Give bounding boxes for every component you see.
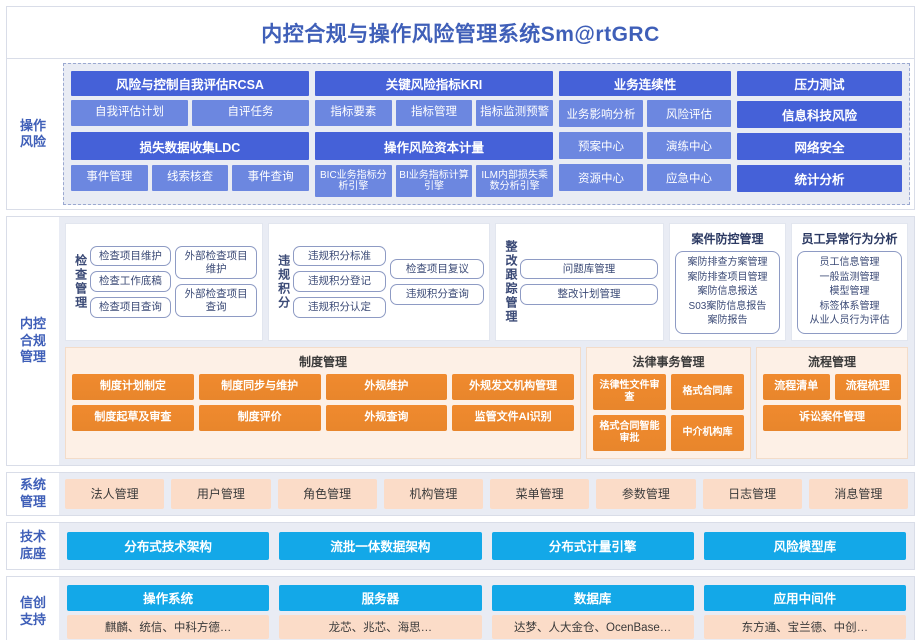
op-capital-header[interactable]: 操作风险资本计量 (315, 132, 553, 160)
policy-btn-plan[interactable]: 制度计划制定 (72, 374, 194, 400)
staff-item-practitioner-eval: 从业人员行为评估 (804, 314, 895, 329)
band-label-internal-control: 内控 合规 管理 (7, 217, 59, 465)
staff-item-model-mgmt: 模型管理 (804, 285, 895, 300)
staff-item-info-mgmt: 员工信息管理 (804, 256, 895, 271)
pill-violation-standard[interactable]: 违规积分标准 (293, 246, 387, 267)
stress-cell-stress-test[interactable]: 压力测试 (737, 71, 902, 96)
pill-check-item-query[interactable]: 检查项目查询 (90, 297, 172, 318)
band-label-operational-risk: 操作 风险 (7, 59, 59, 209)
rectification-label: 整改跟踪管理 (501, 230, 520, 334)
staff-item-tag-system: 标签体系管理 (804, 300, 895, 315)
tech-item-stream-batch-data[interactable]: 流批一体数据架构 (279, 532, 481, 560)
check-management-label: 检查管理 (71, 230, 90, 334)
sys-item-menu[interactable]: 菜单管理 (490, 479, 589, 509)
card-legal-affairs: 法律事务管理 法律性文件审查 格式合同智能审批 格式合同库 中介机构库 (586, 347, 751, 459)
tech-item-risk-model-library[interactable]: 风险模型库 (704, 532, 906, 560)
card-check-management: 检查管理 检查项目维护 检查工作底稿 检查项目查询 外部检查项目维护 外部检查项… (65, 223, 263, 341)
bcm-cell-resource-center[interactable]: 资源中心 (559, 164, 643, 191)
legal-btn-contract-ai-approval[interactable]: 格式合同智能审批 (593, 415, 666, 451)
case-item-s03-report: S03案防信息报告 (682, 300, 773, 315)
xc-sub-server-vendors: 龙芯、兆芯、海思… (279, 615, 481, 639)
pill-violation-register[interactable]: 违规积分登记 (293, 271, 387, 292)
band-label-text: 操作 风险 (20, 118, 46, 151)
process-btn-sorting[interactable]: 流程梳理 (835, 374, 902, 400)
xc-column-os: 操作系统 麒麟、统信、中科方德… (67, 585, 269, 639)
bcm-cell-plan-center[interactable]: 预案中心 (559, 132, 643, 159)
case-item-report: 案防报告 (682, 314, 773, 329)
legal-btn-contract-library[interactable]: 格式合同库 (671, 374, 744, 410)
tech-item-distributed-calc-engine[interactable]: 分布式计量引擎 (492, 532, 694, 560)
capital-sub-bi-engine[interactable]: BI业务指标计算引擎 (396, 165, 473, 197)
band-label-text: 信创 支持 (20, 595, 46, 628)
policy-btn-external-query[interactable]: 外规查询 (326, 405, 448, 431)
case-item-project-mgmt: 案防排查项目管理 (682, 271, 773, 286)
kri-sub-monitor-alert[interactable]: 指标监测预警 (476, 100, 553, 126)
card-staff-behavior: 员工异常行为分析 员工信息管理 一般监测管理 模型管理 标签体系管理 从业人员行… (791, 223, 908, 341)
xc-head-os[interactable]: 操作系统 (67, 585, 269, 611)
rcsa-sub-task[interactable]: 自评任务 (192, 100, 309, 126)
card-case-prevention: 案件防控管理 案防排查方案管理 案防排查项目管理 案防信息报送 S03案防信息报… (669, 223, 786, 341)
xc-head-database[interactable]: 数据库 (492, 585, 694, 611)
rcsa-header[interactable]: 风险与控制自我评估RCSA (71, 71, 309, 96)
sys-item-user[interactable]: 用户管理 (171, 479, 270, 509)
ldc-header[interactable]: 损失数据收集LDC (71, 132, 309, 160)
ldc-sub-event-mgmt[interactable]: 事件管理 (71, 165, 148, 191)
bcm-header[interactable]: 业务连续性 (559, 71, 731, 96)
ldc-sub-event-query[interactable]: 事件查询 (232, 165, 309, 191)
band-xinchuang-support: 信创 支持 操作系统 麒麟、统信、中科方德… 服务器 龙芯、兆芯、海思… 数据库… (6, 576, 915, 640)
sys-item-parameter[interactable]: 参数管理 (596, 479, 695, 509)
staff-behavior-items[interactable]: 员工信息管理 一般监测管理 模型管理 标签体系管理 从业人员行为评估 (797, 251, 902, 334)
xinchuang-body: 操作系统 麒麟、统信、中科方德… 服务器 龙芯、兆芯、海思… 数据库 达梦、人大… (59, 577, 914, 640)
xc-sub-os-vendors: 麒麟、统信、中科方德… (67, 615, 269, 639)
sys-item-legal-entity[interactable]: 法人管理 (65, 479, 164, 509)
card-rectification-tracking: 整改跟踪管理 问题库管理 整改计划管理 (495, 223, 664, 341)
process-btn-litigation-case[interactable]: 诉讼案件管理 (763, 405, 901, 431)
ldc-sub-clue-check[interactable]: 线索核查 (152, 165, 229, 191)
staff-item-general-monitor: 一般监测管理 (804, 271, 895, 286)
band-system-management: 系统 管理 法人管理 用户管理 角色管理 机构管理 菜单管理 参数管理 日志管理… (6, 472, 915, 516)
legal-btn-agency-library[interactable]: 中介机构库 (671, 415, 744, 451)
xc-head-server[interactable]: 服务器 (279, 585, 481, 611)
pill-check-item-maintain[interactable]: 检查项目维护 (90, 246, 172, 267)
policy-btn-draft-review[interactable]: 制度起草及审查 (72, 405, 194, 431)
tech-item-distributed-architecture[interactable]: 分布式技术架构 (67, 532, 269, 560)
violation-points-label: 违规积分 (274, 230, 293, 334)
sys-item-message[interactable]: 消息管理 (809, 479, 908, 509)
card-violation-points: 违规积分 违规积分标准 违规积分登记 违规积分认定 检查项目复议 违规积分查询 (268, 223, 490, 341)
pill-check-item-review[interactable]: 检查项目复议 (390, 259, 484, 280)
system-management-body: 法人管理 用户管理 角色管理 机构管理 菜单管理 参数管理 日志管理 消息管理 (59, 473, 914, 515)
policy-btn-evaluate[interactable]: 制度评价 (199, 405, 321, 431)
stress-cell-statistics[interactable]: 统计分析 (737, 165, 902, 192)
legal-affairs-title: 法律事务管理 (593, 353, 744, 370)
bcm-cell-risk-assess[interactable]: 风险评估 (647, 100, 731, 127)
pill-issue-library[interactable]: 问题库管理 (520, 259, 658, 280)
pill-external-check-maintain[interactable]: 外部检查项目维护 (175, 246, 257, 279)
legal-btn-doc-review[interactable]: 法律性文件审查 (593, 374, 666, 410)
policy-btn-sync-maintain[interactable]: 制度同步与维护 (199, 374, 321, 400)
xc-sub-database-vendors: 达梦、人大金仓、OcenBase… (492, 615, 694, 639)
card-process-management: 流程管理 流程清单 流程梳理 诉讼案件管理 (756, 347, 908, 459)
xc-column-database: 数据库 达梦、人大金仓、OcenBase… (492, 585, 694, 639)
xc-column-middleware: 应用中间件 东方通、宝兰德、中创… (704, 585, 906, 639)
group-rcsa: 风险与控制自我评估RCSA 自我评估计划 自评任务 损失数据收集LDC 事件管理… (71, 71, 309, 197)
sys-item-log[interactable]: 日志管理 (703, 479, 802, 509)
bcm-cell-drill-center[interactable]: 演练中心 (647, 132, 731, 159)
stress-cell-cyber-security[interactable]: 网络安全 (737, 133, 902, 160)
band-label-text: 技术 底座 (20, 529, 46, 562)
xc-head-middleware[interactable]: 应用中间件 (704, 585, 906, 611)
group-stress-test: 压力测试 信息科技风险 网络安全 统计分析 (737, 71, 902, 197)
xc-column-server: 服务器 龙芯、兆芯、海思… (279, 585, 481, 639)
staff-behavior-title: 员工异常行为分析 (797, 230, 902, 247)
policy-btn-ai-recognition[interactable]: 监管文件AI识别 (452, 405, 574, 431)
pill-check-working-paper[interactable]: 检查工作底稿 (90, 271, 172, 292)
operational-risk-body: 风险与控制自我评估RCSA 自我评估计划 自评任务 损失数据收集LDC 事件管理… (63, 63, 910, 205)
architecture-diagram: 内控合规与操作风险管理系统Sm@rtGRC 操作 风险 风险与控制自我评估RCS… (0, 6, 921, 640)
xc-sub-middleware-vendors: 东方通、宝兰德、中创… (704, 615, 906, 639)
policy-btn-issuing-org[interactable]: 外规发文机构管理 (452, 374, 574, 400)
band-label-xinchuang: 信创 支持 (7, 577, 59, 640)
bcm-cell-bia[interactable]: 业务影响分析 (559, 100, 643, 127)
sys-item-role[interactable]: 角色管理 (278, 479, 377, 509)
pill-external-check-query[interactable]: 外部检查项目查询 (175, 284, 257, 317)
tech-base-body: 分布式技术架构 流批一体数据架构 分布式计量引擎 风险模型库 (59, 523, 914, 569)
case-prevention-title: 案件防控管理 (675, 230, 780, 247)
pill-violation-query[interactable]: 违规积分查询 (390, 284, 484, 305)
band-tech-base: 技术 底座 分布式技术架构 流批一体数据架构 分布式计量引擎 风险模型库 (6, 522, 915, 570)
kri-sub-elements[interactable]: 指标要素 (315, 100, 392, 126)
policy-management-title: 制度管理 (72, 353, 574, 370)
band-label-system-management: 系统 管理 (7, 473, 59, 515)
internal-control-body: 检查管理 检查项目维护 检查工作底稿 检查项目查询 外部检查项目维护 外部检查项… (59, 217, 914, 465)
group-bcm: 业务连续性 业务影响分析 预案中心 资源中心 风险评估 演练中心 应急中心 (559, 71, 731, 197)
case-prevention-items[interactable]: 案防排查方案管理 案防排查项目管理 案防信息报送 S03案防信息报告 案防报告 (675, 251, 780, 334)
pill-rectification-plan[interactable]: 整改计划管理 (520, 284, 658, 305)
process-management-title: 流程管理 (763, 353, 901, 370)
pill-violation-confirm[interactable]: 违规积分认定 (293, 297, 387, 318)
capital-sub-ilm-engine[interactable]: ILM内部损失乘数分析引擎 (476, 165, 553, 197)
policy-btn-external-maintain[interactable]: 外规维护 (326, 374, 448, 400)
stress-cell-it-risk[interactable]: 信息科技风险 (737, 101, 902, 128)
band-label-text: 系统 管理 (20, 477, 46, 510)
card-policy-management: 制度管理 制度计划制定 制度起草及审查 制度同步与维护 制度评价 外规维护 外规 (65, 347, 581, 459)
rcsa-sub-plan[interactable]: 自我评估计划 (71, 100, 188, 126)
process-btn-list[interactable]: 流程清单 (763, 374, 830, 400)
page-title: 内控合规与操作风险管理系统Sm@rtGRC (261, 18, 660, 48)
band-operational-risk: 操作 风险 风险与控制自我评估RCSA 自我评估计划 自评任务 损失数据收集LD… (6, 58, 915, 210)
band-label-text: 内控 合规 管理 (20, 316, 46, 365)
bcm-cell-emergency-center[interactable]: 应急中心 (647, 164, 731, 191)
sys-item-organization[interactable]: 机构管理 (384, 479, 483, 509)
group-kri: 关键风险指标KRI 指标要素 指标管理 指标监测预警 操作风险资本计量 BIC业… (315, 71, 553, 197)
kri-header[interactable]: 关键风险指标KRI (315, 71, 553, 96)
case-item-scheme-mgmt: 案防排查方案管理 (682, 256, 773, 271)
case-item-info-submit: 案防信息报送 (682, 285, 773, 300)
page-title-bar: 内控合规与操作风险管理系统Sm@rtGRC (6, 6, 915, 58)
band-internal-control: 内控 合规 管理 检查管理 检查项目维护 检查工作底稿 检查项目查询 外部检查项… (6, 216, 915, 466)
kri-sub-mgmt[interactable]: 指标管理 (396, 100, 473, 126)
band-label-tech-base: 技术 底座 (7, 523, 59, 569)
capital-sub-bic-engine[interactable]: BIC业务指标分析引擎 (315, 165, 392, 197)
